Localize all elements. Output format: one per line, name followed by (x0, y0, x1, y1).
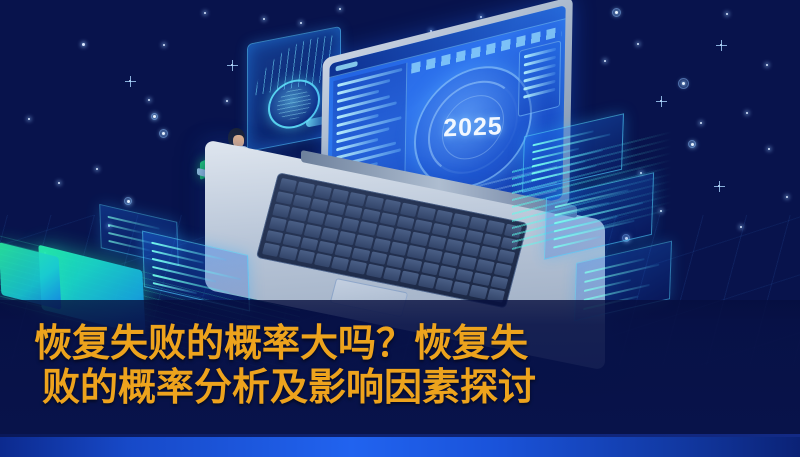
banner-title: 恢复失败的概率大吗？恢复失 败的概率分析及影响因素探讨 (0, 322, 800, 410)
bottom-accent-bar (0, 437, 800, 457)
screen-right-widget (518, 40, 561, 117)
title-line-2: 败的概率分析及影响因素探讨 (34, 366, 766, 410)
banner-image: 2025 (0, 0, 800, 457)
title-line-1: 恢复失败的概率大吗？恢复失 (34, 322, 766, 366)
